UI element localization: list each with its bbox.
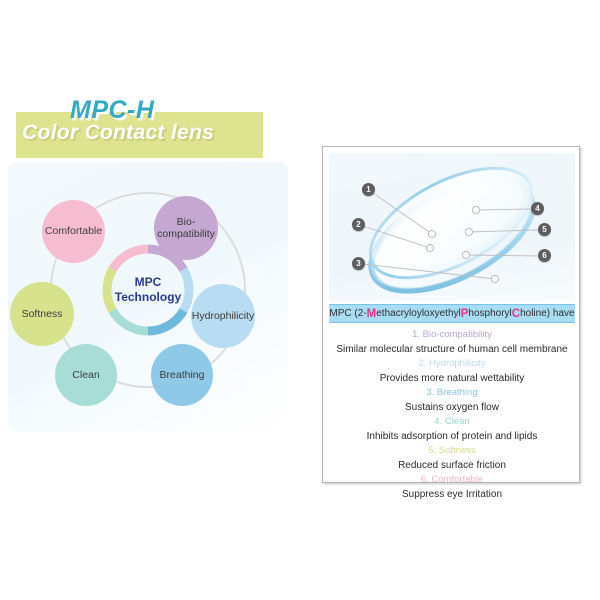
- lens-illustration: 1 2 3 4 5 6: [329, 153, 575, 301]
- bubble-comfortable[interactable]: Comfortable: [42, 200, 105, 263]
- bubble-breathing-label: Breathing: [160, 369, 205, 381]
- feature-5-desc: Reduced surface friction: [329, 458, 575, 473]
- feature-3-desc: Sustains oxygen flow: [329, 400, 575, 415]
- feature-2-desc: Provides more natural wettability: [329, 371, 575, 386]
- feature-2-heading: 2. Hydrophilicity: [329, 357, 575, 371]
- lens-marker-2[interactable]: 2: [352, 218, 365, 231]
- mpc-technology-panel: MPC-H Color Contact lens Comfortable Bio…: [0, 80, 300, 460]
- bubble-breathing[interactable]: Breathing: [151, 344, 213, 406]
- feature-4-desc: Inhibits adsorption of protein and lipid…: [329, 429, 575, 444]
- lens-features-panel: 1 2 3 4 5 6 MPC (2-Methacryloyloxyethyl …: [322, 146, 580, 483]
- bubble-hydrophilicity-label: Hydrophilicity: [192, 310, 254, 322]
- bubble-bio-compatibility-label: Bio- compatibility: [157, 216, 215, 240]
- mpc-highlight-c: C: [512, 308, 520, 320]
- feature-5-heading: 5. Softness: [329, 444, 575, 458]
- bubble-comfortable-label: Comfortable: [45, 225, 102, 237]
- feature-6-desc: Suppress eye Irritation: [329, 487, 575, 502]
- feature-1-heading: 1. Bio-compatibility: [329, 328, 575, 342]
- mpc-mid-2: hosphoryl: [468, 308, 511, 319]
- mpc-highlight-m: M: [367, 308, 377, 320]
- bubble-hydrophilicity[interactable]: Hydrophilicity: [191, 284, 255, 348]
- feature-6-heading: 6. Comfortable: [329, 473, 575, 487]
- lens-marker-1[interactable]: 1: [362, 183, 375, 196]
- feature-3-heading: 3. Breathing: [329, 386, 575, 400]
- bubble-bio-compatibility[interactable]: Bio- compatibility: [154, 196, 218, 260]
- mpc-highlight-p: P: [461, 308, 469, 320]
- feature-list: 1. Bio-compatibility Similar molecular s…: [329, 328, 575, 502]
- bubble-clean[interactable]: Clean: [55, 344, 117, 406]
- bubble-softness[interactable]: Softness: [10, 282, 74, 346]
- lens-marker-4[interactable]: 4: [531, 202, 544, 215]
- mpc-definition-bar: MPC (2-Methacryloyloxyethyl PhosphorylCh…: [329, 304, 575, 323]
- bubble-softness-label: Softness: [22, 308, 63, 320]
- mpc-prefix: MPC (2-: [329, 308, 366, 319]
- bubble-clean-label: Clean: [72, 369, 99, 381]
- technology-wheel-card: Comfortable Bio- compatibility Hydrophil…: [8, 162, 288, 432]
- diagram-canvas: MPC-H Color Contact lens Comfortable Bio…: [0, 0, 600, 600]
- mpc-mid-1: ethacryloyloxyethyl: [376, 308, 460, 319]
- lens-marker-5[interactable]: 5: [538, 223, 551, 236]
- product-subtitle: Color Contact lens: [22, 121, 282, 145]
- lens-marker-6[interactable]: 6: [538, 249, 551, 262]
- feature-1-desc: Similar molecular structure of human cel…: [329, 342, 575, 357]
- lens-marker-3[interactable]: 3: [352, 257, 365, 270]
- feature-4-heading: 4. Clean: [329, 415, 575, 429]
- mpc-mid-3: holine) have: [520, 308, 574, 319]
